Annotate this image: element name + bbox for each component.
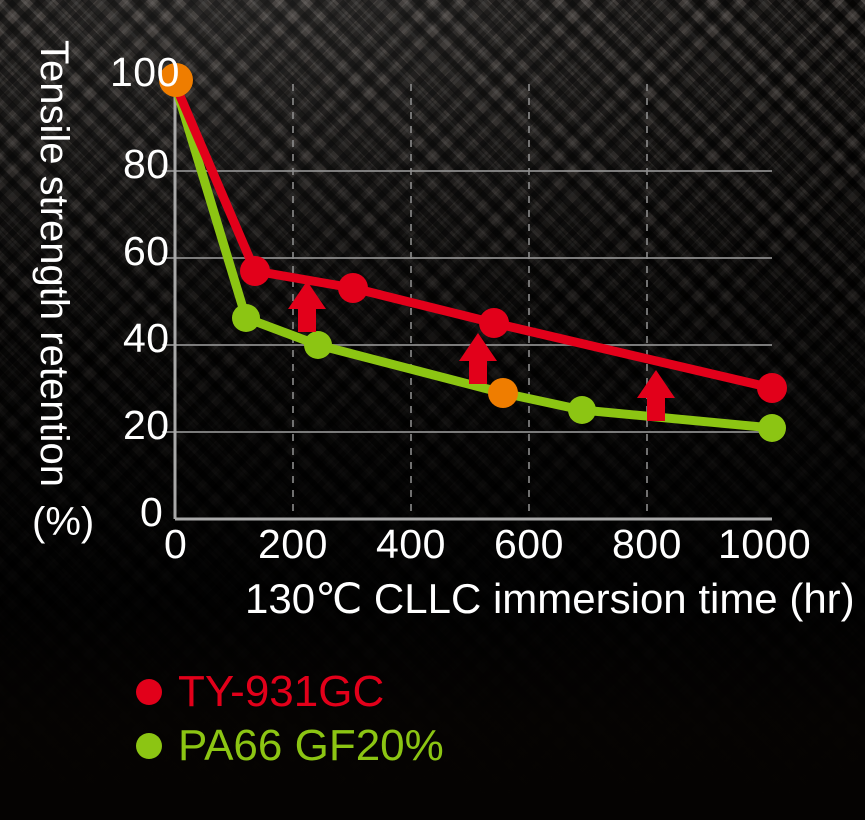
y-axis-label: Tensile strength retention [31, 40, 76, 487]
y-tick-label-80: 80 [123, 144, 170, 185]
y-gridlines [162, 171, 772, 432]
x-tick-label-200: 200 [258, 524, 328, 565]
data-point [568, 396, 596, 424]
x-tick-label-800: 800 [612, 524, 682, 565]
x-tick-label-400: 400 [376, 524, 446, 565]
data-point [232, 304, 260, 332]
legend-dot-icon [136, 679, 162, 705]
data-point [757, 373, 787, 403]
y-tick-label-40: 40 [123, 318, 170, 359]
data-point [338, 273, 368, 303]
y-tick-label-20: 20 [123, 405, 170, 446]
y-tick-label-100: 100 [110, 52, 180, 93]
x-tick-label-0: 0 [164, 524, 187, 565]
x-tick-label-600: 600 [494, 524, 564, 565]
y-axis-unit-label: (%) [32, 500, 94, 545]
data-point [758, 414, 786, 442]
legend-dot-icon [136, 733, 162, 759]
up-arrow-icon [459, 333, 497, 384]
chart-screenshot: 100 80 60 40 20 0 0 200 400 600 800 1000… [0, 0, 865, 820]
legend-label: TY-931GC [178, 670, 384, 714]
legend: TY-931GC PA66 GF20% [136, 665, 444, 773]
axes [175, 84, 772, 519]
data-point [479, 308, 509, 338]
legend-label: PA66 GF20% [178, 724, 444, 768]
pa66-highlight-marker [488, 378, 518, 408]
y-tick-label-60: 60 [123, 231, 170, 272]
data-point [304, 331, 332, 359]
legend-item-pa66: PA66 GF20% [136, 719, 444, 773]
y-tick-label-0: 0 [140, 492, 163, 533]
x-axis-label: 130℃ CLLC immersion time (hr) [245, 574, 855, 623]
plot-area: 100 80 60 40 20 0 0 200 400 600 800 1000… [0, 0, 865, 820]
x-gridlines [293, 84, 647, 519]
legend-item-ty931gc: TY-931GC [136, 665, 444, 719]
x-tick-label-1000: 1000 [718, 524, 811, 565]
data-point [240, 256, 270, 286]
